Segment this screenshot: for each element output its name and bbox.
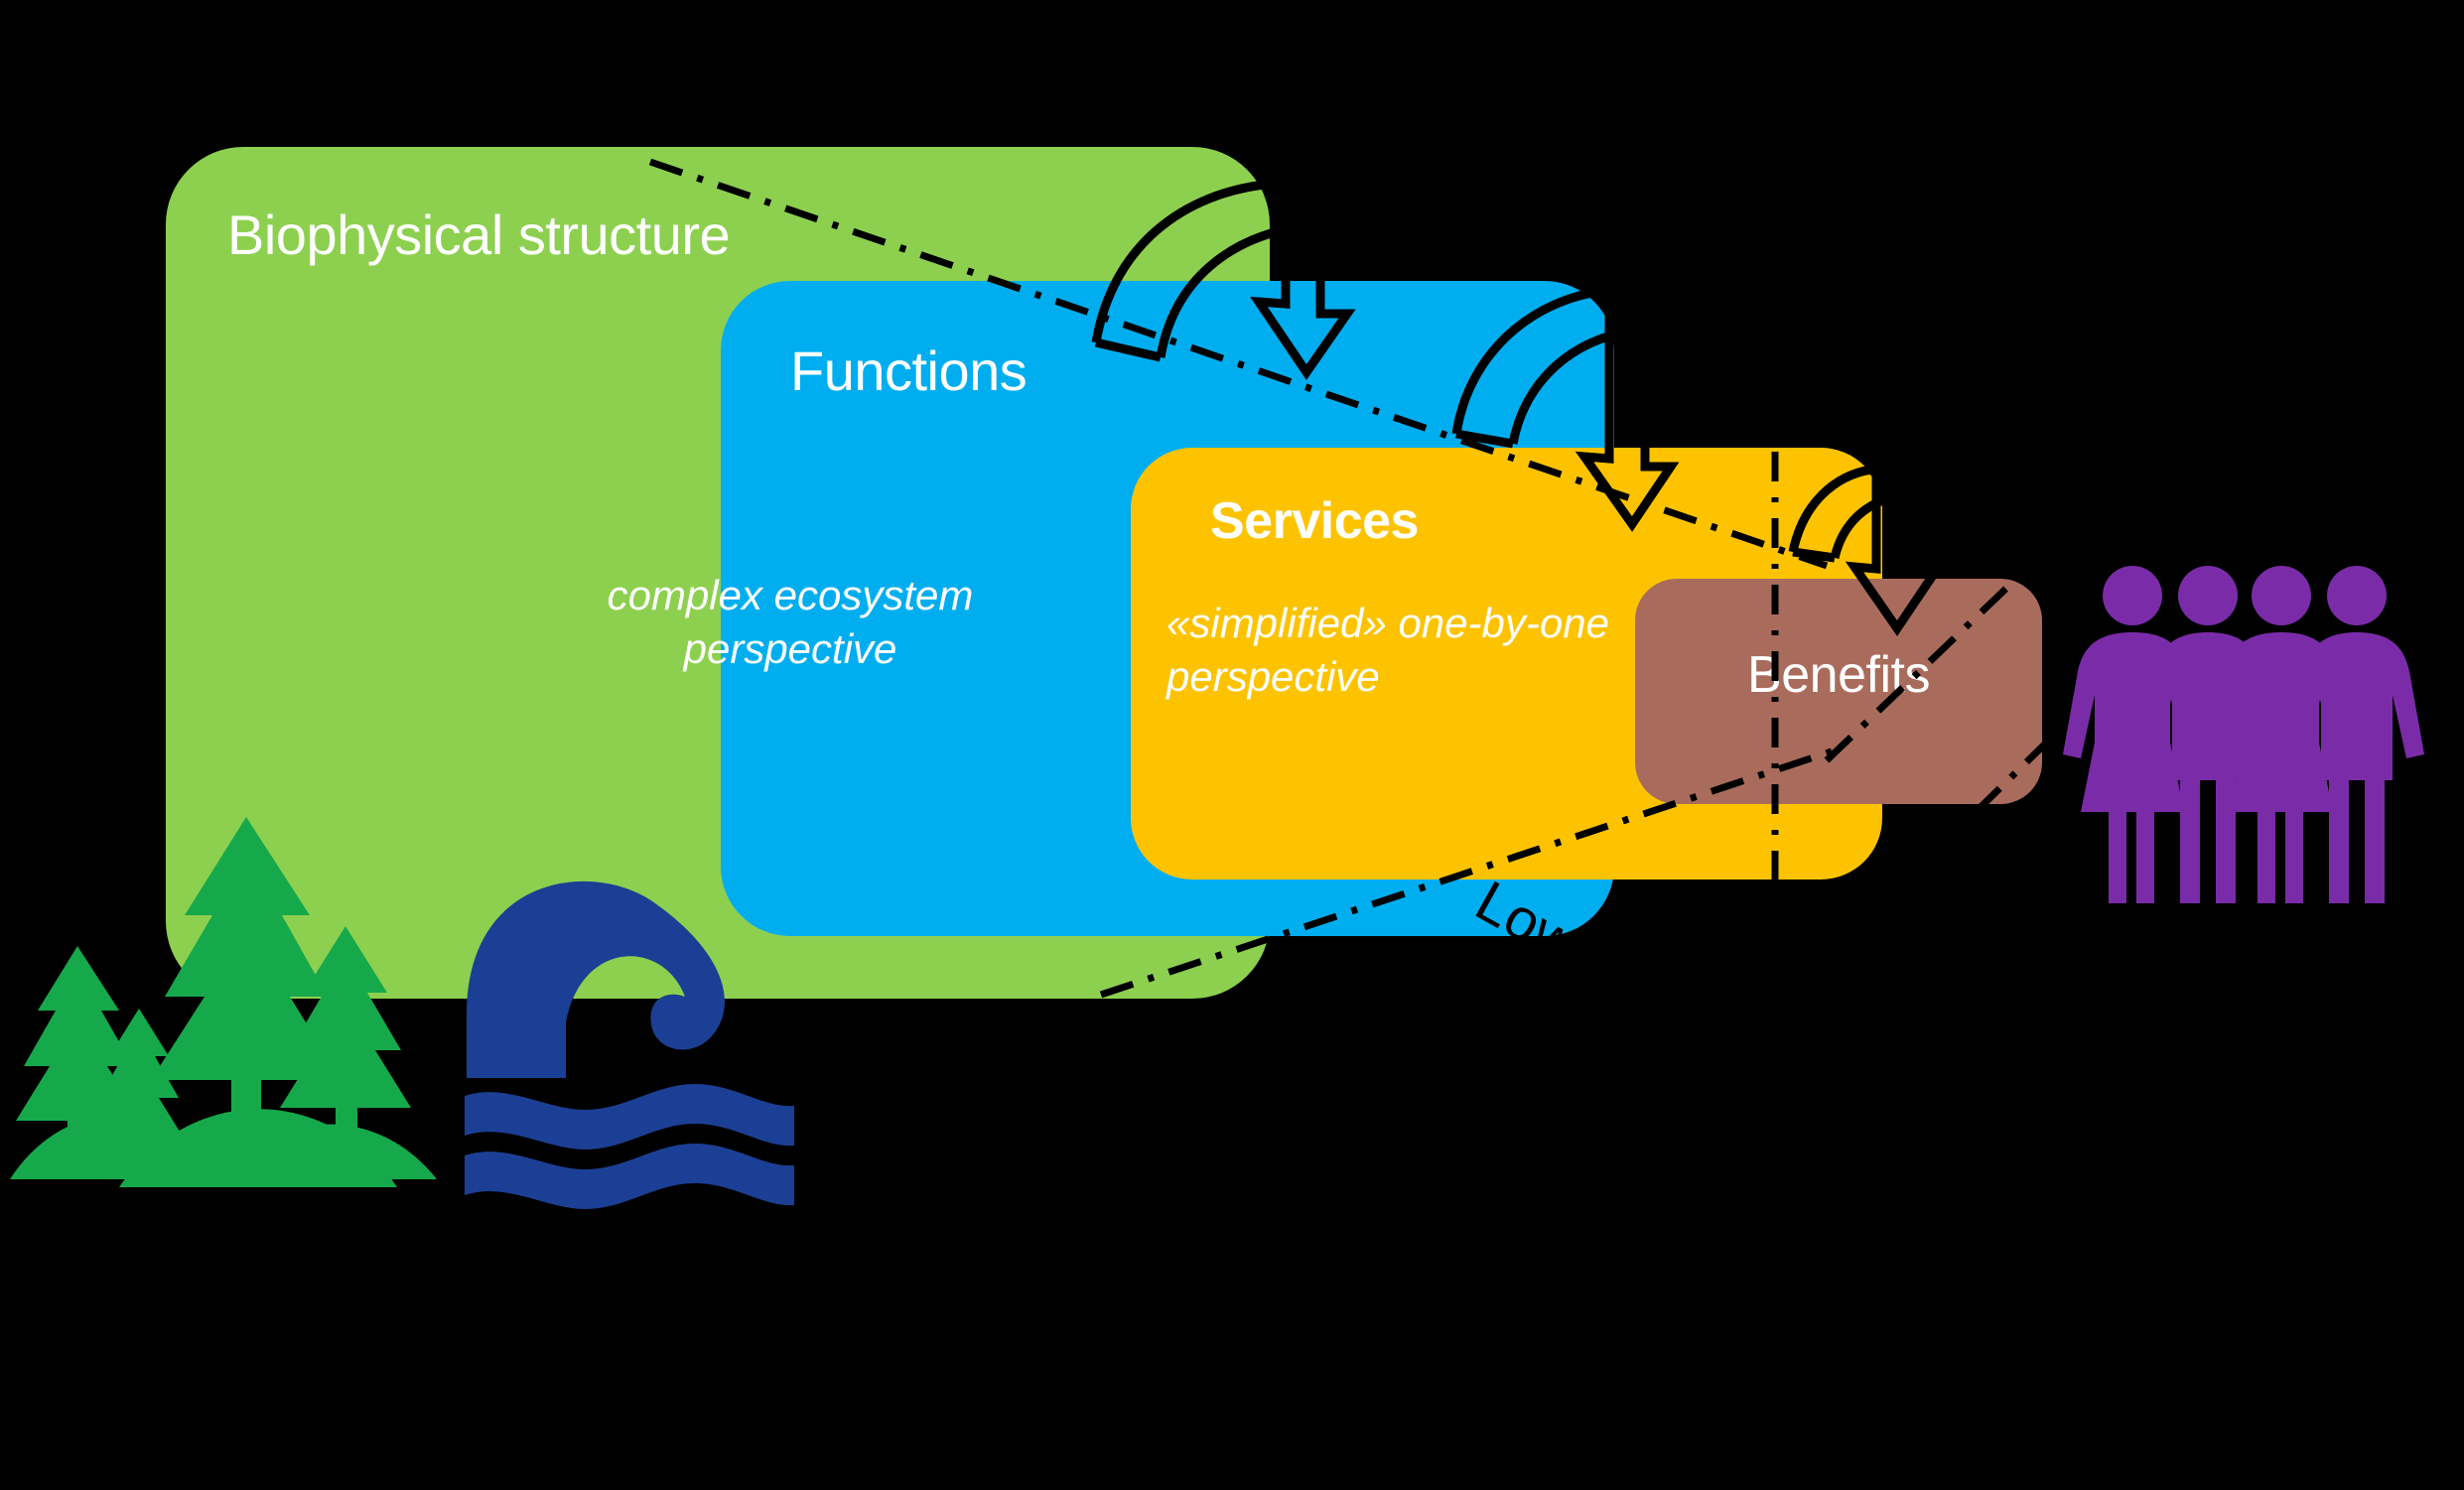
icon-overlay <box>0 0 2464 1490</box>
forest-trees-icon <box>10 817 437 1187</box>
diagram-canvas: Biophysical structure Functions complex … <box>0 0 2464 1490</box>
person-figure <box>2289 566 2424 903</box>
ocean-wave-icon <box>465 881 794 1209</box>
people-group-icon <box>2063 566 2424 903</box>
